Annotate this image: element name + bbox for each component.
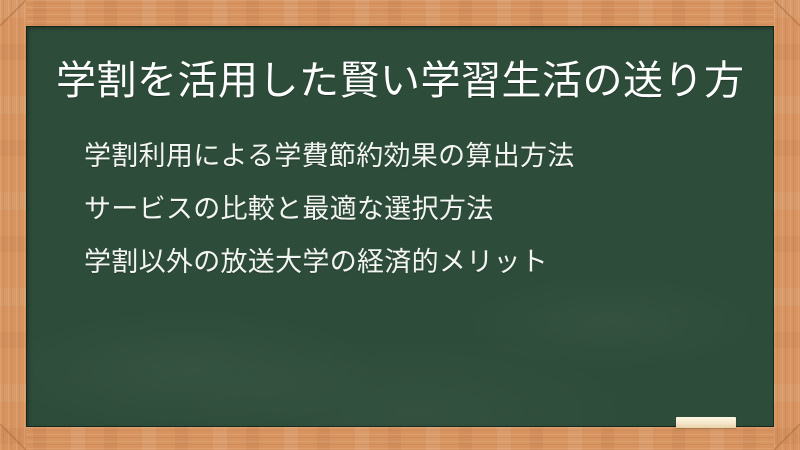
frame-rail-top: [0, 0, 800, 26]
blackboard-slide: 学割を活用した賢い学習生活の送り方 学割利用による学費節約効果の算出方法 サービ…: [0, 0, 800, 450]
frame-mitre-top-right: [774, 0, 800, 26]
topic-list-item-3: 学割以外の放送大学の経済的メリット: [84, 236, 744, 289]
frame-rail-left: [0, 0, 26, 450]
frame-rail-right: [774, 0, 800, 450]
frame-mitre-bottom-right: [774, 424, 800, 450]
frame-rail-bottom: [0, 427, 800, 450]
chalk-stick-icon: [676, 417, 736, 428]
topic-list: 学割利用による学費節約効果の算出方法 サービスの比較と最適な選択方法 学割以外の…: [84, 130, 744, 289]
blackboard-surface: 学割を活用した賢い学習生活の送り方 学割利用による学費節約効果の算出方法 サービ…: [26, 26, 774, 427]
frame-mitre-top-left: [0, 0, 26, 26]
topic-list-item-1: 学割利用による学費節約効果の算出方法: [84, 130, 744, 183]
frame-mitre-bottom-left: [0, 424, 26, 450]
topic-list-item-2: サービスの比較と最適な選択方法: [84, 183, 744, 236]
slide-title: 学割を活用した賢い学習生活の送り方: [56, 52, 756, 110]
